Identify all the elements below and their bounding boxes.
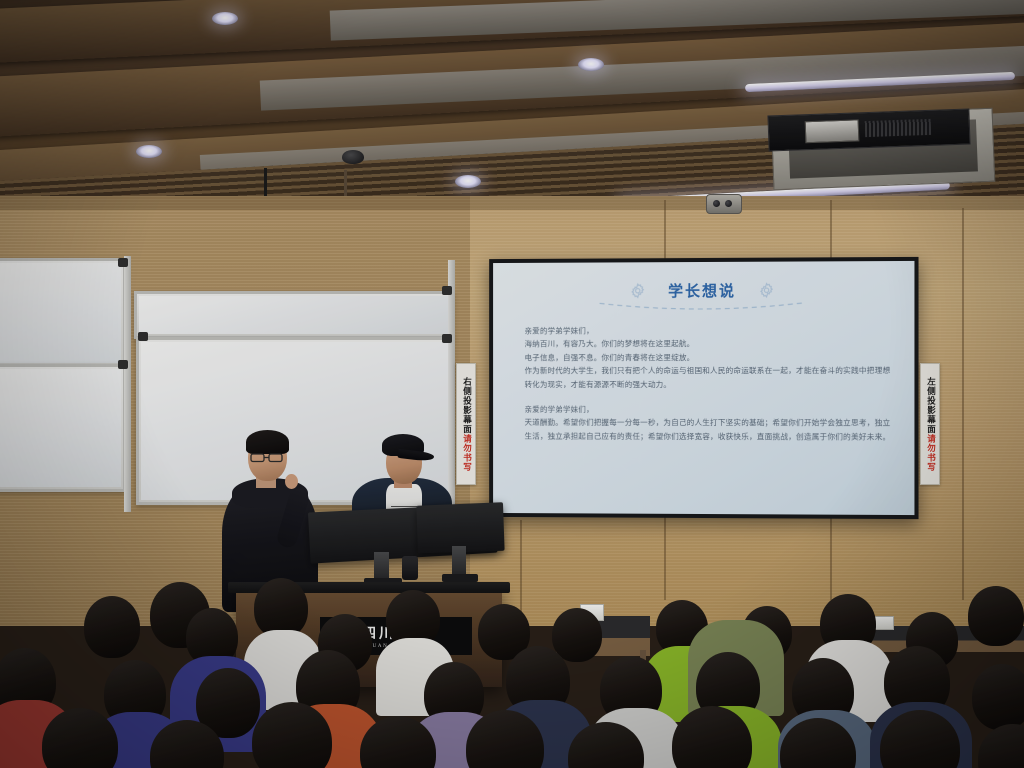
glasses-icon: [250, 452, 286, 463]
sign-text-black: 右侧投影幕面: [462, 377, 472, 434]
slide-title-row: 学长想说: [493, 279, 914, 302]
sign-text-red: 请勿书写: [462, 434, 472, 472]
projector-lens-icon: [805, 119, 860, 143]
lecture-hall-photo: 学长想说 亲爱的学弟学妹们， 海纳百川，有容乃大。你们的梦想将在这里起航。 电子…: [0, 0, 1024, 768]
audience-head: [968, 586, 1024, 646]
whiteboard-rail: [448, 260, 455, 514]
audience-head: [254, 578, 308, 638]
wall-camera-icon: [706, 194, 742, 214]
whiteboard-bracket: [118, 258, 128, 267]
downlight-icon: [455, 175, 481, 188]
whiteboard-bracket: [118, 360, 128, 369]
audience: [0, 560, 1024, 768]
projector-grill: [865, 119, 932, 137]
slide-body: 亲爱的学弟学妹们， 海纳百川，有容乃大。你们的梦想将在这里起航。 电子信息，自强…: [525, 324, 893, 444]
whiteboard-panel: [0, 364, 126, 492]
whiteboard-panel: [134, 291, 454, 339]
dome-camera-icon: [342, 150, 364, 164]
audience-head: [42, 708, 118, 768]
audience-head: [972, 664, 1024, 730]
downlight-icon: [136, 145, 162, 158]
gear-icon: [758, 282, 775, 299]
slide-paragraph: 亲爱的学弟学妹们， 天道酬勤。希望你们把握每一分每一秒，为自己的人生打下坚实的基…: [525, 403, 893, 444]
right-projection-warning-sign: 左侧投影幕面请勿书写: [920, 363, 940, 485]
wall-seam: [962, 208, 964, 600]
sign-text-red: 请勿书写: [926, 434, 936, 472]
downlight-icon: [578, 58, 604, 71]
slide-paragraph: 亲爱的学弟学妹们， 海纳百川，有容乃大。你们的梦想将在这里起航。 电子信息，自强…: [525, 324, 893, 392]
whiteboard-bracket: [442, 334, 452, 343]
whiteboard-bracket: [442, 286, 452, 295]
whiteboard-bracket: [138, 332, 148, 341]
downlight-icon: [212, 12, 238, 25]
whiteboard-panel: [0, 258, 126, 368]
audience-head: [84, 596, 140, 658]
slide: 学长想说 亲爱的学弟学妹们， 海纳百川，有容乃大。你们的梦想将在这里起航。 电子…: [493, 261, 914, 515]
gear-icon: [629, 282, 646, 299]
sign-text-black: 左侧投影幕面: [926, 377, 936, 434]
wall-band: [0, 196, 1024, 210]
whiteboard-rail: [124, 256, 131, 512]
speaker-left-hand: [285, 474, 298, 489]
speaker-left-hair: [246, 430, 289, 454]
slide-title: 学长想说: [668, 280, 736, 301]
left-projection-warning-sign: 右侧投影幕面请勿书写: [456, 363, 476, 485]
audience-head: [552, 608, 602, 662]
title-underline: [598, 300, 808, 313]
projection-screen: 学长想说 亲爱的学弟学妹们， 海纳百川，有容乃大。你们的梦想将在这里起航。 电子…: [489, 257, 918, 519]
ceiling-projector: [767, 108, 970, 151]
audience-head: [978, 724, 1024, 768]
